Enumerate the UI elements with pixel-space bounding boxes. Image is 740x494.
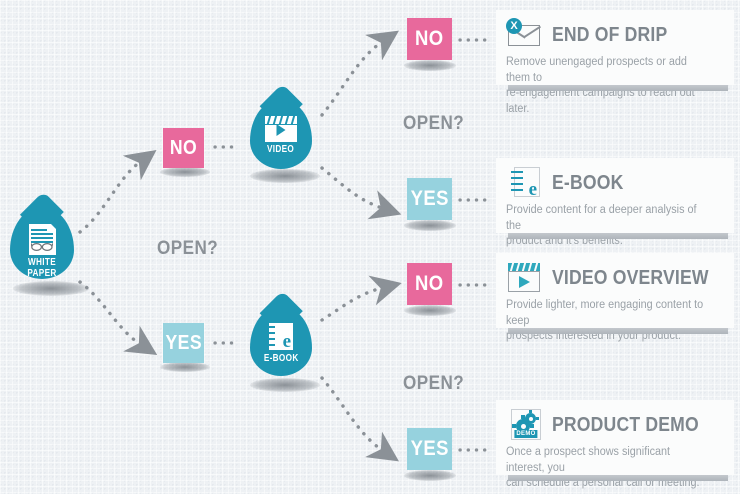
card-e-book[interactable]: e E-BOOK Provide content for a deeper an… (496, 158, 734, 233)
video-shadow (250, 169, 320, 183)
card-desc-video-overview: Provide lighter, more engaging content t… (506, 298, 724, 345)
badge-no-branch-1-label: NO (170, 137, 197, 160)
card-desc-product-demo: Once a prospect shows significant intere… (506, 445, 724, 492)
node-white-paper-label: WHITE PAPER (16, 257, 68, 279)
white-paper-shadow (13, 281, 89, 296)
arrow-video-to-yes (322, 168, 382, 208)
arrow-ebook-to-no (322, 288, 382, 320)
badge-yes-branch-video-label: YES (410, 187, 448, 211)
badge-no-branch1-shadow (160, 167, 210, 177)
badge-yes-mid-shadow (404, 220, 456, 231)
badge-no-branch-1[interactable]: NO (163, 128, 204, 168)
node-video-label: VIDEO (267, 144, 294, 155)
card-title-product-demo: PRODUCT DEMO (552, 414, 719, 437)
card-product-demo[interactable]: DEMO PRODUCT DEMO Once a prospect shows … (496, 400, 734, 475)
ebook-shadow (250, 378, 320, 392)
decision-label-open-3: OPEN? (403, 373, 471, 395)
card-end-of-drip[interactable]: X END OF DRIP Remove unengaged prospects… (496, 10, 734, 85)
envelope-x-badge: X (506, 18, 522, 34)
gears-demo-icon: DEMO (506, 408, 544, 442)
spiral-notebook-icon: e (506, 166, 544, 200)
badge-no-branch-2[interactable]: NO (407, 263, 452, 305)
flowchart-canvas: WHITE PAPER VIDEO (0, 0, 740, 494)
node-ebook[interactable]: e E-BOOK (250, 306, 312, 376)
badge-yes-branch-1-label: YES (165, 332, 202, 355)
card-video-overview[interactable]: VIDEO OVERVIEW Provide lighter, more eng… (496, 253, 734, 328)
card-desc-e-book: Provide content for a deeper analysis of… (506, 203, 724, 250)
card-title-end-of-drip: END OF DRIP (552, 24, 683, 47)
film-clapper-icon (265, 116, 297, 142)
arrow-wp-to-no (80, 162, 140, 232)
card-shadow-bar (508, 85, 728, 91)
badge-no-top-shadow (404, 60, 456, 71)
badge-yes-bottom[interactable]: YES (407, 428, 452, 470)
demo-tag-label: DEMO (514, 430, 537, 438)
badge-no-branch2-shadow (404, 305, 456, 316)
arrow-ebook-to-yes (322, 378, 382, 450)
spiral-notebook-icon: e (269, 323, 293, 350)
document-glasses-icon (29, 224, 56, 255)
card-title-video-overview: VIDEO OVERVIEW (552, 267, 730, 290)
card-shadow-bar (508, 233, 728, 239)
node-ebook-label: E-BOOK (264, 353, 299, 364)
node-white-paper[interactable]: WHITE PAPER (10, 207, 74, 279)
arrow-video-to-no (322, 42, 382, 115)
arrow-wp-to-yes (80, 282, 140, 344)
card-title-e-book: E-BOOK (552, 172, 633, 195)
badge-yes-branch1-shadow (160, 362, 210, 372)
film-clapper-icon (506, 261, 544, 295)
badge-yes-bottom-label: YES (410, 437, 448, 461)
card-shadow-bar (508, 328, 728, 334)
decision-label-open-1: OPEN? (157, 238, 225, 260)
badge-no-branch-2-label: NO (415, 272, 444, 296)
badge-yes-branch-video[interactable]: YES (407, 178, 452, 220)
card-shadow-bar (508, 475, 728, 481)
badge-no-top[interactable]: NO (407, 18, 452, 60)
decision-label-open-2: OPEN? (403, 113, 471, 135)
badge-yes-branch-1[interactable]: YES (163, 323, 204, 363)
envelope-x-icon: X (506, 18, 544, 52)
badge-no-top-label: NO (415, 27, 444, 51)
glasses-icon (31, 242, 53, 251)
badge-yes-bottom-shadow (404, 470, 456, 481)
node-video[interactable]: VIDEO (250, 99, 312, 169)
